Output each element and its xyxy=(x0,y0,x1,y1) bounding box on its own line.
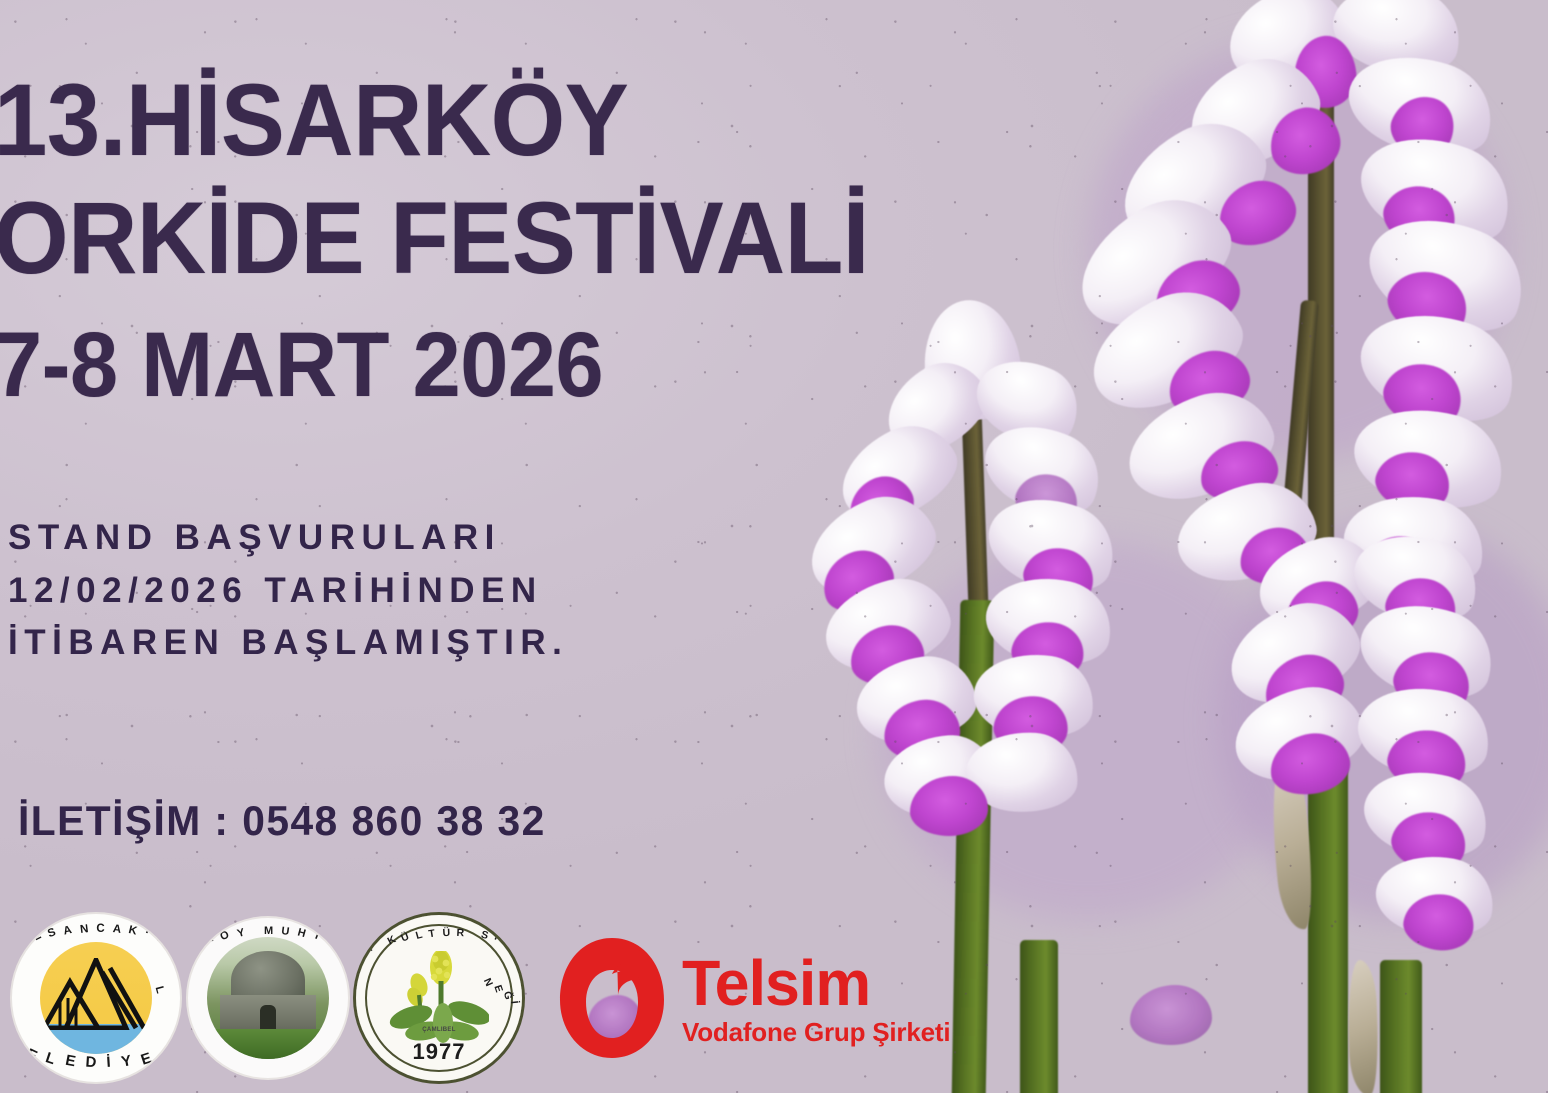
logo-dernek-arc: HİSARKÖY KÜLTÜR SPOR DERNEĞİ xyxy=(356,927,522,951)
page-title-line-1: 13.HİSARKÖY xyxy=(0,72,628,169)
stone-building-photo xyxy=(207,937,329,1059)
telsim-subtitle: Vodafone Grup Şirketi xyxy=(682,1019,950,1045)
logo-bel-arc-top: LAPTA·ALSANCAK·ÇAMLIBEL xyxy=(12,923,180,947)
logo-dernek-caption: ÇAMLIBEL xyxy=(422,1027,455,1033)
announcement-line-2: 12/02/2026 TARİHİNDEN xyxy=(8,565,568,618)
festival-poster: 13.HİSARKÖY ORKİDE FESTİVALİ 7-8 MART 20… xyxy=(0,0,1548,1093)
logo-telsim-vodafone: Telsim Vodafone Grup Şirketi xyxy=(556,934,950,1062)
vodafone-speechmark-icon xyxy=(556,934,668,1062)
logo-hisarkoy-kultur-spor-dernegi: HİSARKÖY KÜLTÜR SPOR DERNEĞİ ÇAMLIBEL 19… xyxy=(356,915,522,1081)
telsim-name: Telsim xyxy=(682,951,945,1015)
logo-hisarkoy-muhtarligi: HİSARKÖY MUHTARLIĞI xyxy=(188,918,348,1078)
announcement-block: STAND BAŞVURULARI 12/02/2026 TARİHİNDEN … xyxy=(8,512,568,670)
page-title-line-3: 7-8 MART 2026 xyxy=(0,322,603,409)
orchid-sheath-right xyxy=(1344,959,1381,1093)
contact-phone: İLETİŞİM : 0548 860 38 32 xyxy=(18,797,546,845)
logo-muhtarlik-arc: HİSARKÖY MUHTARLIĞI xyxy=(188,925,348,937)
orchid-bud-bottom xyxy=(1130,985,1212,1045)
orchid-stem-right xyxy=(1380,960,1422,1093)
orchid-stem-left xyxy=(1020,940,1058,1093)
page-title-line-2: ORKİDE FESTİVALİ xyxy=(0,190,869,287)
mountain-icon xyxy=(40,958,152,1030)
logo-dernek-year: 1977 xyxy=(356,1039,522,1065)
logo-lapta-belediyesi: LAPTA·ALSANCAK·ÇAMLIBEL BELEDİYESİ xyxy=(12,914,180,1082)
announcement-line-1: STAND BAŞVURULARI xyxy=(8,512,568,565)
sponsor-logo-row: LAPTA·ALSANCAK·ÇAMLIBEL BELEDİYESİ HİSAR… xyxy=(12,909,950,1087)
logo-bel-arc-bottom: BELEDİYESİ xyxy=(12,1054,180,1071)
announcement-line-3: İTİBAREN BAŞLAMIŞTIR. xyxy=(8,617,568,670)
